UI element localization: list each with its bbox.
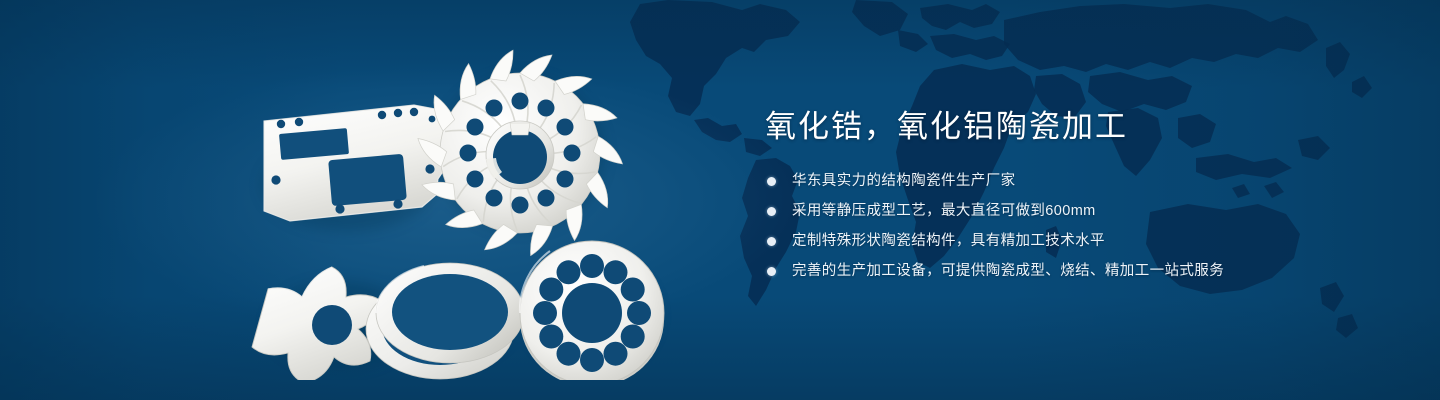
promo-banner: 氧化锆，氧化铝陶瓷加工 华东具实力的结构陶瓷件生产厂家 采用等静压成型工艺，最大…: [0, 0, 1440, 400]
list-item: 华东具实力的结构陶瓷件生产厂家: [765, 171, 1375, 192]
ceramic-rings-shape: [366, 263, 524, 379]
bullet-dot-icon: [767, 177, 776, 186]
list-item-label: 完善的生产加工设备，可提供陶瓷成型、烧结、精加工一站式服务: [792, 263, 1224, 279]
ceramic-products-image: [230, 35, 710, 380]
banner-copy: 氧化锆，氧化铝陶瓷加工 华东具实力的结构陶瓷件生产厂家 采用等静压成型工艺，最大…: [765, 108, 1375, 291]
list-item: 采用等静压成型工艺，最大直径可做到600mm: [765, 201, 1375, 222]
ceramic-impeller-shape: [418, 50, 623, 255]
bullet-dot-icon: [767, 267, 776, 276]
list-item-label: 采用等静压成型工艺，最大直径可做到600mm: [792, 203, 1096, 219]
list-item-label: 定制特殊形状陶瓷结构件，具有精加工技术水平: [792, 233, 1105, 249]
feature-list: 华东具实力的结构陶瓷件生产厂家 采用等静压成型工艺，最大直径可做到600mm 定…: [765, 171, 1375, 282]
list-item: 定制特殊形状陶瓷结构件，具有精加工技术水平: [765, 231, 1375, 252]
bullet-dot-icon: [767, 237, 776, 246]
ceramic-perforated-disc-shape: [520, 241, 664, 380]
page-title: 氧化锆，氧化铝陶瓷加工: [765, 108, 1375, 145]
list-item-label: 华东具实力的结构陶瓷件生产厂家: [792, 173, 1016, 189]
bullet-dot-icon: [767, 207, 776, 216]
ceramic-plate-shape: [264, 105, 454, 221]
list-item: 完善的生产加工设备，可提供陶瓷成型、烧结、精加工一站式服务: [765, 261, 1375, 282]
